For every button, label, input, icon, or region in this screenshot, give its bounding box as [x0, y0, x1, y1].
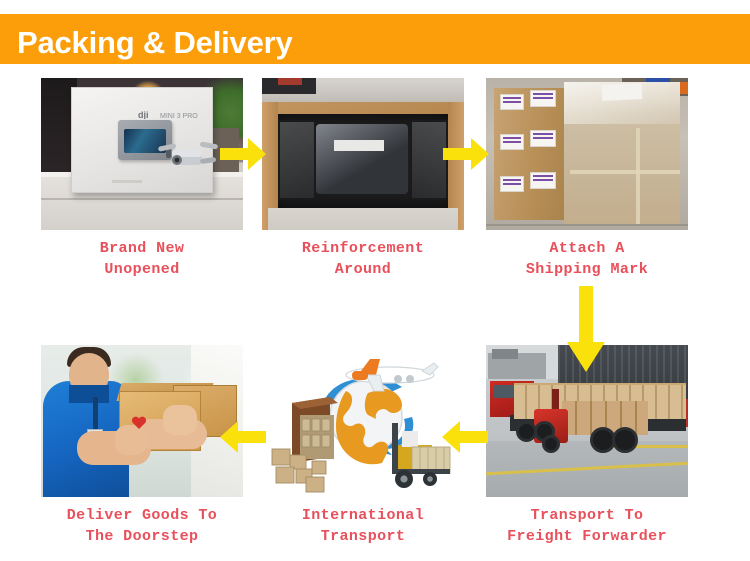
step-2-photo — [262, 78, 464, 230]
truck-wheel — [612, 427, 638, 453]
step-card-shipping-mark: Attach A Shipping Mark — [486, 78, 688, 280]
flow-arrow-left-2 — [220, 420, 266, 454]
caption-line-1: Brand New — [41, 238, 243, 259]
step-2-caption: Reinforcement Around — [262, 238, 464, 280]
carton-label — [530, 130, 556, 147]
step-1-caption: Brand New Unopened — [41, 238, 243, 280]
floor-front — [268, 208, 458, 230]
step-3-caption: Attach A Shipping Mark — [486, 238, 688, 280]
flow-arrow-left-1 — [442, 420, 488, 454]
flow-arrow-down — [566, 286, 606, 372]
flow-arrow-right-2 — [443, 137, 489, 171]
caption-line-2: Freight Forwarder — [486, 526, 688, 547]
arrow-left-icon — [442, 420, 488, 454]
step-3-photo — [486, 78, 688, 230]
carton-label — [500, 176, 524, 192]
carton-label — [500, 94, 524, 110]
forklift-wheel — [542, 435, 560, 453]
dji-logo-icon: dji MINI 3 PRO — [138, 106, 198, 115]
step-4-caption: Deliver Goods To The Doorstep — [41, 505, 243, 547]
svg-text:MINI 3 PRO: MINI 3 PRO — [160, 113, 198, 119]
step-card-reinforcement: Reinforcement Around — [262, 78, 464, 280]
heart-svg — [131, 415, 147, 431]
heart-sticker-icon — [131, 415, 147, 431]
arrow-left-icon — [220, 420, 266, 454]
logistics-illustration — [262, 345, 464, 497]
caption-line-1: Attach A — [486, 238, 688, 259]
caption-line-1: International — [262, 505, 464, 526]
step-card-doorstep-delivery: Deliver Goods To The Doorstep — [41, 345, 243, 547]
flow-arrow-right-1 — [220, 137, 266, 171]
background-red-item — [278, 78, 302, 85]
caption-line-2: Shipping Mark — [486, 259, 688, 280]
caption-line-2: The Doorstep — [41, 526, 243, 547]
table-seam — [41, 198, 243, 200]
caption-line-1: Deliver Goods To — [41, 505, 243, 526]
product-box: dji MINI 3 PRO — [71, 87, 213, 193]
arrow-right-icon — [220, 137, 266, 171]
page-title: Packing & Delivery — [17, 18, 293, 68]
drone-svg — [158, 138, 218, 174]
caption-line-1: Reinforcement — [262, 238, 464, 259]
caption-line-2: Unopened — [41, 259, 243, 280]
carton-label — [530, 172, 556, 189]
step-card-brand-new: dji MINI 3 PRO — [41, 78, 243, 280]
customer-hand — [163, 405, 197, 435]
caption-line-1: Transport To — [486, 505, 688, 526]
pallet-strap — [636, 128, 640, 224]
step-card-freight-forwarder: Transport To Freight Forwarder — [486, 345, 688, 547]
step-5-photo — [262, 345, 464, 497]
step-5-caption: International Transport — [262, 505, 464, 547]
step-card-international-transport: International Transport — [262, 345, 464, 547]
arrow-right-icon — [443, 137, 489, 171]
courier-collar — [69, 385, 109, 403]
box-fine-print — [112, 180, 142, 183]
courier-lanyard — [93, 397, 98, 431]
step-4-photo — [41, 345, 243, 497]
product-label — [334, 140, 384, 151]
carton-label — [500, 134, 524, 150]
step-1-photo: dji MINI 3 PRO — [41, 78, 243, 230]
floor-line — [486, 224, 688, 226]
caption-line-2: Around — [262, 259, 464, 280]
pallet-strap — [570, 170, 680, 174]
caption-line-2: Transport — [262, 526, 464, 547]
shipping-mark-label — [602, 83, 643, 101]
drone-illustration — [158, 138, 218, 174]
foam-block-left — [278, 120, 316, 200]
step-6-caption: Transport To Freight Forwarder — [486, 505, 688, 547]
background-building-roof — [492, 349, 518, 359]
arrow-down-icon — [566, 286, 606, 372]
bubble-wrapped-product — [316, 124, 408, 194]
svg-text:dji: dji — [138, 110, 149, 119]
carton-label — [530, 90, 556, 107]
dji-logo-svg: dji MINI 3 PRO — [138, 110, 198, 119]
